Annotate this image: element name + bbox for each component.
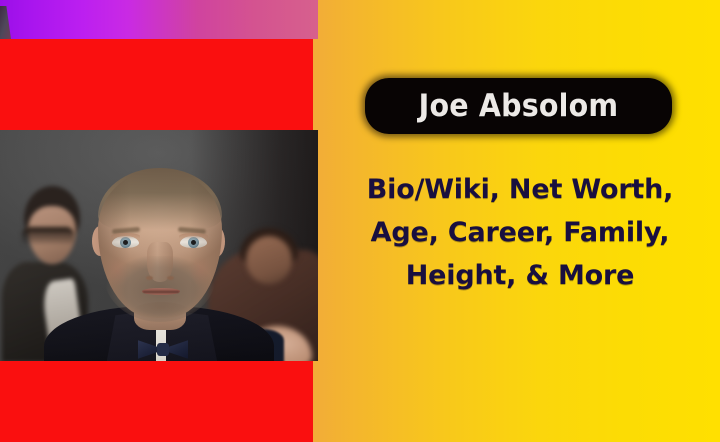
top-accent-strip — [0, 0, 318, 39]
subject-figure — [0, 130, 318, 361]
subtitle-line-3: Height, & More — [330, 254, 710, 297]
bow-tie-knot — [157, 343, 169, 356]
bow-tie-wing-right — [167, 339, 188, 360]
subtitle-line-1: Bio/Wiki, Net Worth, — [330, 168, 710, 211]
subject-bow-tie — [138, 339, 188, 360]
subtitle-block: Bio/Wiki, Net Worth, Age, Career, Family… — [330, 168, 710, 297]
red-band-top — [0, 39, 313, 131]
subject-face-shading — [98, 170, 222, 318]
celebrity-bio-poster: Joe Absolom Bio/Wiki, Net Worth, Age, Ca… — [0, 0, 720, 442]
bow-tie-wing-left — [138, 339, 159, 360]
subject-photo — [0, 130, 318, 361]
title-plate: Joe Absolom — [365, 78, 672, 134]
page-title: Joe Absolom — [419, 88, 619, 124]
photo-edge-sliver — [0, 6, 11, 39]
subtitle-line-2: Age, Career, Family, — [330, 211, 710, 254]
red-band-bottom — [0, 360, 313, 442]
